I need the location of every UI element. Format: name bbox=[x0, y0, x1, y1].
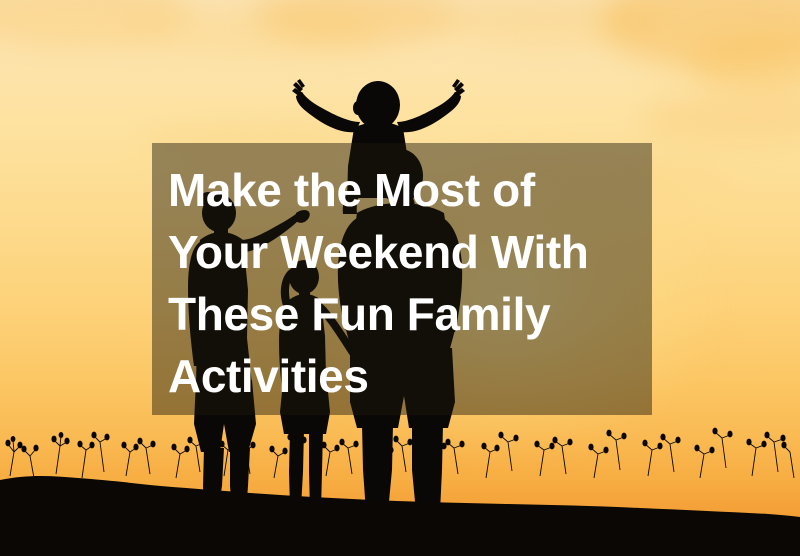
title-overlay-card: Make the Most of Your Weekend With These… bbox=[152, 143, 652, 415]
ground-svg bbox=[0, 416, 800, 556]
ground-silhouette bbox=[0, 416, 800, 556]
page-title: Make the Most of Your Weekend With These… bbox=[168, 159, 642, 407]
hero-banner: Make the Most of Your Weekend With These… bbox=[0, 0, 800, 556]
ground-hill bbox=[0, 476, 800, 556]
seed-heads bbox=[5, 428, 786, 455]
